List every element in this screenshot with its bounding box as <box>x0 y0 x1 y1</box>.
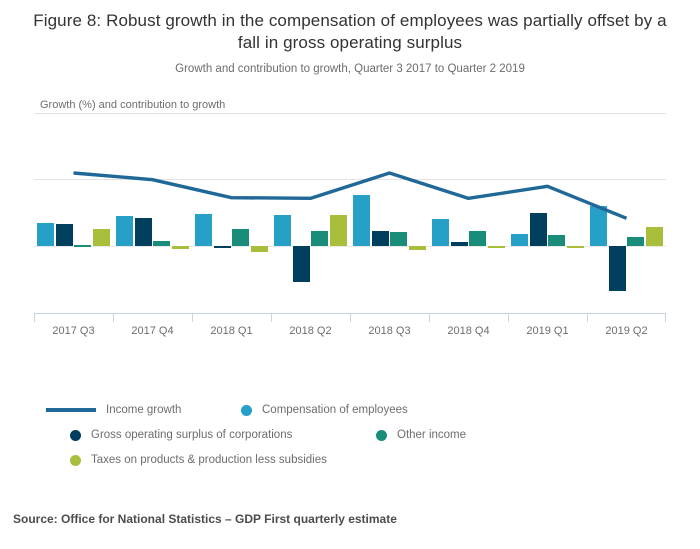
y-axis-label: Growth (%) and contribution to growth <box>36 99 229 111</box>
legend-line-swatch-icon <box>46 408 96 412</box>
x-tick-label: 2018 Q4 <box>429 325 508 337</box>
legend-label: Gross operating surplus of corporations <box>91 429 292 441</box>
x-tick-label: 2019 Q2 <box>587 325 666 337</box>
x-tick-mark <box>429 314 430 322</box>
legend-dot-swatch-icon <box>376 430 387 441</box>
x-tick-mark <box>665 314 666 322</box>
chart-subtitle: Growth and contribution to growth, Quart… <box>22 63 678 75</box>
page-title: Figure 8: Robust growth in the compensat… <box>22 10 678 54</box>
chart-legend: Income growthCompensation of employeesGr… <box>46 404 646 479</box>
x-tick-label: 2018 Q1 <box>192 325 271 337</box>
plot-canvas: -1012 <box>34 113 666 313</box>
legend-item[interactable]: Compensation of employees <box>241 404 408 416</box>
legend-row: Taxes on products & production less subs… <box>46 454 646 479</box>
legend-item[interactable]: Taxes on products & production less subs… <box>70 454 327 466</box>
x-tick-label: 2018 Q3 <box>350 325 429 337</box>
x-tick-mark <box>508 314 509 322</box>
legend-item[interactable]: Other income <box>376 429 466 441</box>
legend-item[interactable]: Gross operating surplus of corporations <box>70 429 292 441</box>
x-tick-label: 2017 Q3 <box>34 325 113 337</box>
x-tick-label: 2017 Q4 <box>113 325 192 337</box>
legend-dot-swatch-icon <box>241 405 252 416</box>
x-tick-mark <box>192 314 193 322</box>
line-path <box>74 173 627 218</box>
x-tick-mark <box>587 314 588 322</box>
x-axis: 2017 Q32017 Q42018 Q12018 Q22018 Q32018 … <box>34 313 666 347</box>
legend-label: Income growth <box>106 404 181 416</box>
legend-dot-swatch-icon <box>70 455 81 466</box>
legend-row: Gross operating surplus of corporationsO… <box>46 429 646 454</box>
legend-item[interactable]: Income growth <box>46 404 181 416</box>
x-tick-label: 2019 Q1 <box>508 325 587 337</box>
x-tick-mark <box>350 314 351 322</box>
legend-label: Other income <box>397 429 466 441</box>
legend-dot-swatch-icon <box>70 430 81 441</box>
x-tick-mark <box>113 314 114 322</box>
income-growth-line <box>34 113 666 313</box>
chart-plot-area: Growth (%) and contribution to growth -1… <box>0 93 700 343</box>
x-tick-mark <box>34 314 35 322</box>
source-note: Source: Office for National Statistics –… <box>13 512 397 526</box>
chart-header: Figure 8: Robust growth in the compensat… <box>0 0 700 75</box>
x-tick-mark <box>271 314 272 322</box>
legend-row: Income growthCompensation of employees <box>46 404 646 429</box>
legend-label: Taxes on products & production less subs… <box>91 454 327 466</box>
x-tick-label: 2018 Q2 <box>271 325 350 337</box>
legend-label: Compensation of employees <box>262 404 408 416</box>
